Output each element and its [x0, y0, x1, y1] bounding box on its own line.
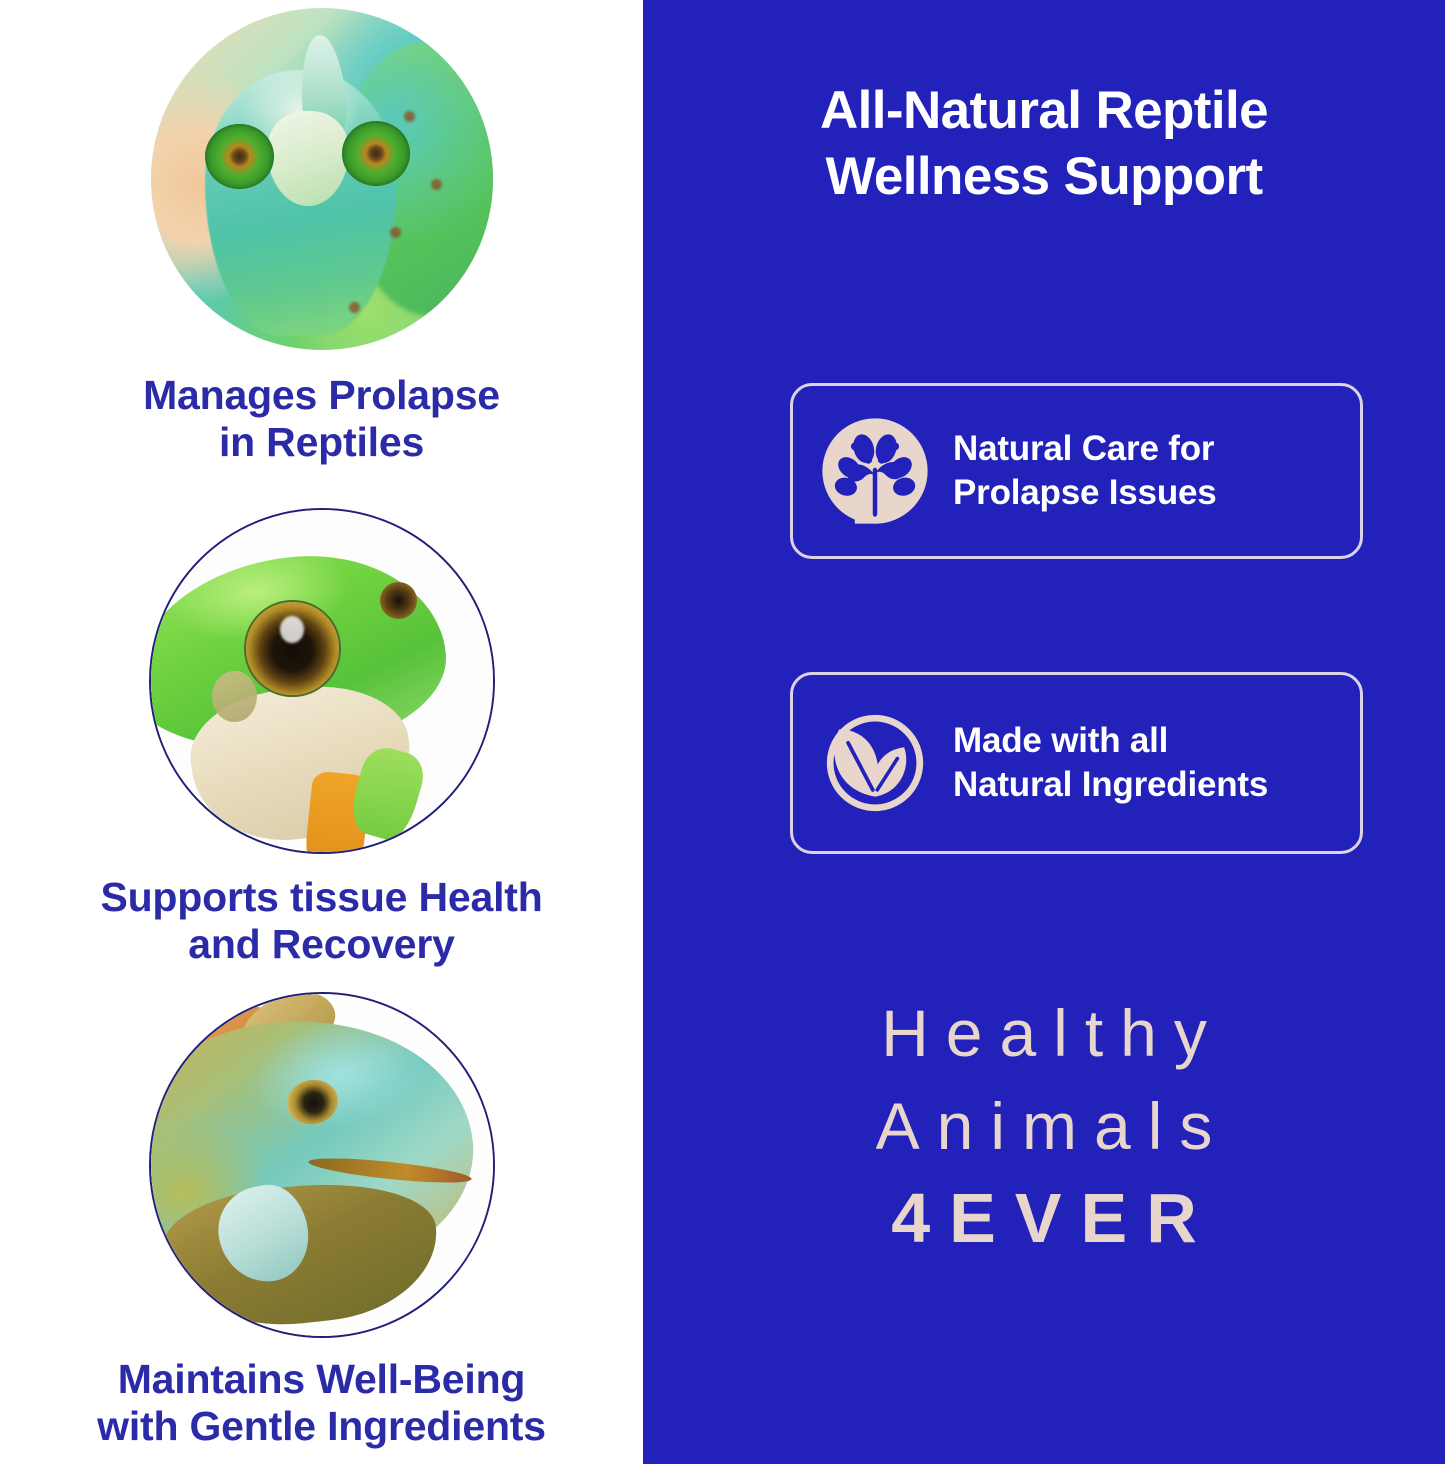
- brand-line-2: Animals: [643, 1088, 1445, 1164]
- product-feature-graphic: Manages Prolapse in Reptiles Supports ti…: [0, 0, 1445, 1464]
- feature-item-3: Maintains Well-Being with Gentle Ingredi…: [0, 992, 643, 1449]
- page-title: All-Natural Reptile Wellness Support: [643, 78, 1445, 209]
- feature-item-2: Supports tissue Health and Recovery: [0, 508, 643, 967]
- feature-caption-3: Maintains Well-Being with Gentle Ingredi…: [0, 1356, 643, 1449]
- iguana-photo: [149, 992, 495, 1338]
- badge-natural-ingredients: Made with all Natural Ingredients: [790, 672, 1363, 854]
- right-blue-panel: All-Natural Reptile Wellness Support: [643, 0, 1445, 1464]
- badge-natural-care: Natural Care for Prolapse Issues: [790, 383, 1363, 559]
- brand-line-3: 4EVER: [643, 1178, 1445, 1258]
- leaf-circle-icon: [819, 707, 931, 819]
- left-features-column: Manages Prolapse in Reptiles Supports ti…: [0, 0, 643, 1464]
- feature-caption-1: Manages Prolapse in Reptiles: [0, 372, 643, 465]
- badge-label-natural-ingredients: Made with all Natural Ingredients: [953, 719, 1268, 807]
- badge-label-natural-care: Natural Care for Prolapse Issues: [953, 427, 1217, 515]
- feature-caption-2: Supports tissue Health and Recovery: [0, 874, 643, 967]
- brand-line-1: Healthy: [643, 995, 1445, 1071]
- feature-item-1: Manages Prolapse in Reptiles: [0, 8, 643, 465]
- tree-lung-icon: [819, 415, 931, 527]
- chameleon-photo: [151, 8, 493, 350]
- frog-photo: [149, 508, 495, 854]
